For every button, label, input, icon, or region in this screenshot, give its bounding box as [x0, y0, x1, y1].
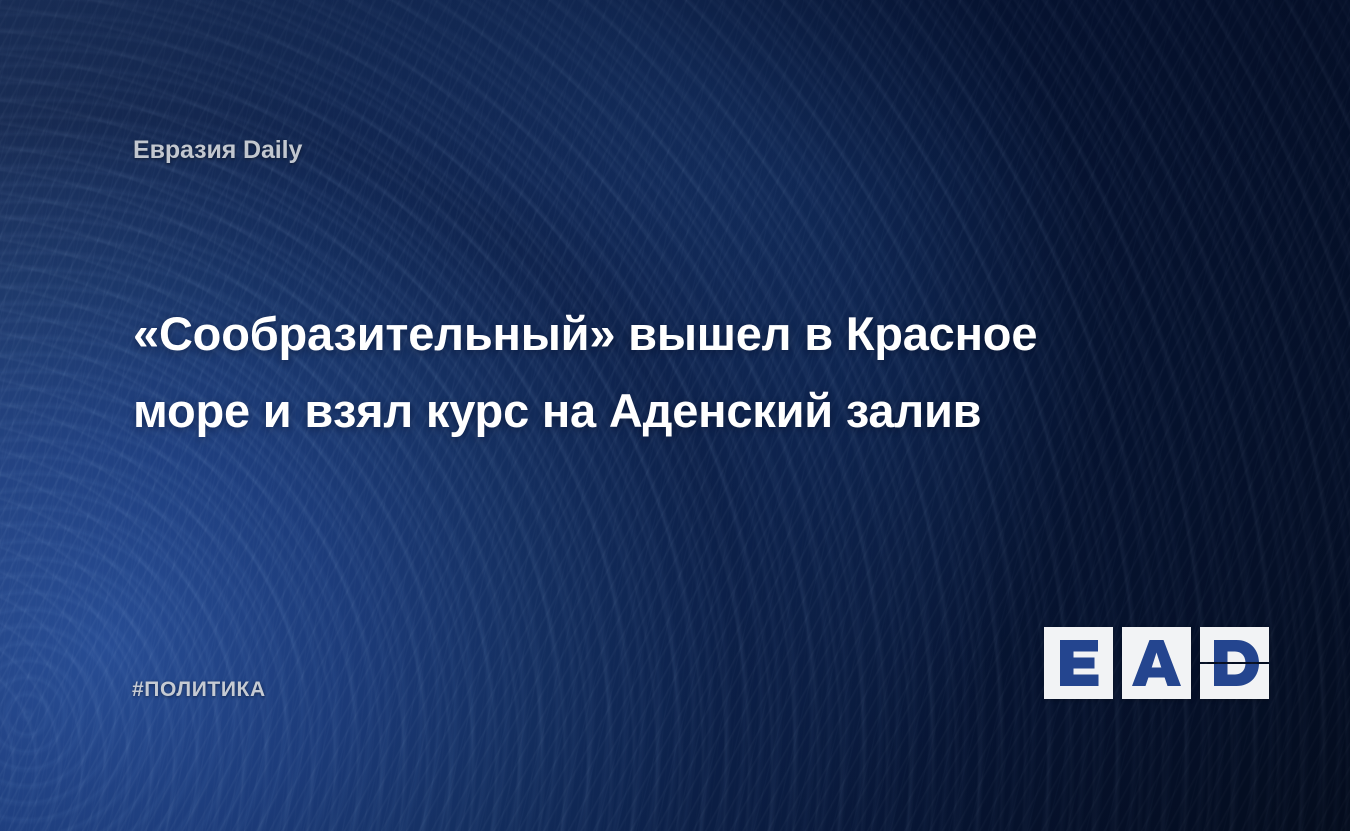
- publisher-brand[interactable]: Евразия Daily: [133, 136, 302, 165]
- letter-d-lower-icon: [1200, 664, 1269, 699]
- card-content: Евразия Daily «Сообразительный» вышел в …: [0, 0, 1350, 831]
- ead-logo[interactable]: [1044, 627, 1269, 699]
- logo-letter-d-top-half: [1200, 627, 1269, 662]
- letter-e-icon: [1044, 627, 1113, 699]
- logo-letter-e-tile: [1044, 627, 1113, 699]
- category-tag-politika[interactable]: #ПОЛИТИКА: [132, 678, 266, 702]
- logo-letter-d-tile: [1200, 627, 1269, 699]
- news-article-card: Евразия Daily «Сообразительный» вышел в …: [0, 0, 1350, 831]
- page-title: «Сообразительный» вышел в Красное море и…: [133, 295, 1193, 449]
- logo-letter-a-tile: [1122, 627, 1191, 699]
- logo-letter-d-bottom-half: [1200, 664, 1269, 699]
- letter-d-upper-icon: [1200, 627, 1269, 662]
- headline-line-2: море и взял курс на Аденский залив: [133, 372, 1193, 449]
- headline-line-1: «Сообразительный» вышел в Красное: [133, 295, 1193, 372]
- letter-a-icon: [1122, 627, 1191, 699]
